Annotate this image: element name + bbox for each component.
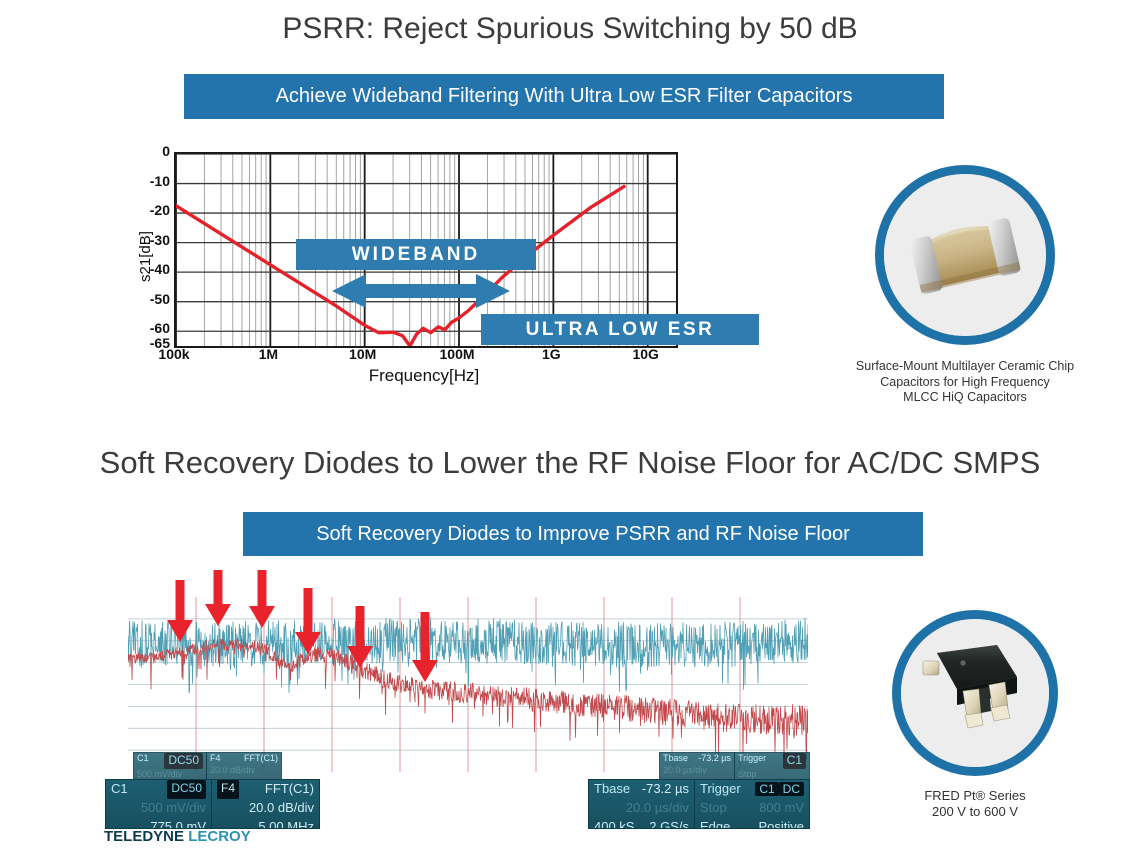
chart-x-tick: 10G xyxy=(632,346,658,362)
oscilloscope-display xyxy=(128,597,808,772)
wideband-span-arrow-icon xyxy=(332,272,510,310)
readout-timebase-memory: 400 kS xyxy=(594,818,634,829)
slide-root: PSRR: Reject Spurious Switching by 50 dB… xyxy=(0,0,1140,862)
readout-c1-scale: 500 mV/div xyxy=(141,799,206,818)
chart-x-tick: 100k xyxy=(158,346,189,362)
readout-trigger-label: Trigger xyxy=(700,780,741,799)
chart-y-tick: -40 xyxy=(130,261,170,277)
chart-y-tick: -30 xyxy=(130,232,170,248)
readout-f4-function: FFT(C1) xyxy=(265,780,314,799)
dpak-diode-package-icon xyxy=(901,619,1049,767)
readout-c1-ghost-coupling: DC50 xyxy=(164,753,203,769)
scope-brand-logo: TELEDYNE LECROY xyxy=(104,828,251,845)
product-fred-pt-diode: FRED Pt® Series 200 V to 600 V xyxy=(870,610,1080,821)
readout-timebase-delay: -73.2 µs xyxy=(642,780,689,799)
readout-trigger-slope: Positive xyxy=(758,818,804,829)
readout-f4-ghost-label: F4 xyxy=(210,753,221,765)
chart-x-axis-label: Frequency[Hz] xyxy=(174,366,674,386)
scope-fft-traces xyxy=(128,597,808,772)
chart-x-tick: 1M xyxy=(259,346,278,362)
ultra-low-esr-callout-label: ULTRA LOW ESR xyxy=(526,319,715,341)
readout-timebase-ghost-label: Tbase xyxy=(663,753,688,765)
readout-f4-span: 5.00 MHz xyxy=(258,818,314,829)
readout-trigger-ghost: TriggerC1 Stop xyxy=(734,752,810,781)
wideband-callout-label: WIDEBAND xyxy=(352,244,481,266)
readout-trigger[interactable]: Trigger C1DC Stop 800 mV Edge Positive xyxy=(694,779,810,829)
chart-y-tick: -50 xyxy=(130,291,170,307)
wideband-callout: WIDEBAND xyxy=(296,239,536,270)
chart-x-tick: 100M xyxy=(440,346,475,362)
readout-f4-ghost-function: FFT(C1) xyxy=(244,753,278,765)
chart-y-axis-ticks: 0-10-20-30-40-50-60-65 xyxy=(128,140,170,340)
banner-wideband-filtering-label: Achieve Wideband Filtering With Ultra Lo… xyxy=(276,85,853,108)
readout-trigger-level: 800 mV xyxy=(759,799,804,818)
readout-timebase-ghost: Tbase-73.2 µs 20.0 µs/div xyxy=(659,752,735,781)
scope-gridlines xyxy=(128,597,808,772)
readout-c1-ghost: C1DC50 500 mV/div xyxy=(133,752,207,781)
readout-timebase-rate: 2 GS/s xyxy=(649,818,689,829)
readout-trigger-type: Edge xyxy=(700,818,730,829)
readout-timebase[interactable]: Tbase -73.2 µs 20.0 µs/div 400 kS 2 GS/s xyxy=(588,779,695,829)
page-title-psrr: PSRR: Reject Spurious Switching by 50 dB xyxy=(0,12,1140,46)
readout-timebase-ghost-delay: -73.2 µs xyxy=(698,753,731,765)
chart-y-tick: 0 xyxy=(130,143,170,159)
page-title-soft-recovery: Soft Recovery Diodes to Lower the RF Noi… xyxy=(0,445,1140,481)
readout-f4-ghost-scale: 20.0 dB/div xyxy=(210,765,255,777)
readout-trigger-state: Stop xyxy=(700,799,727,818)
readout-trigger-source: C1 xyxy=(755,782,778,796)
product-diode-circle xyxy=(892,610,1058,776)
readout-f4-label: F4 xyxy=(217,780,239,799)
mlcc-chip-capacitor-icon xyxy=(884,174,1046,336)
ultra-low-esr-callout: ULTRA LOW ESR xyxy=(481,314,759,345)
banner-soft-recovery-label: Soft Recovery Diodes to Improve PSRR and… xyxy=(316,523,850,546)
chart-x-tick: 1G xyxy=(542,346,561,362)
product-mlcc-caption: Surface-Mount Multilayer Ceramic Chip Ca… xyxy=(845,359,1085,406)
readout-timebase-scale: 20.0 µs/div xyxy=(626,799,689,818)
readout-trigger-ghost-source: C1 xyxy=(783,753,806,769)
readout-c1-label: C1 xyxy=(111,780,128,799)
chart-y-tick: -10 xyxy=(130,173,170,189)
readout-trigger-coupling: DC xyxy=(779,782,804,796)
chart-y-tick: -60 xyxy=(130,320,170,336)
banner-soft-recovery: Soft Recovery Diodes to Improve PSRR and… xyxy=(243,512,923,556)
product-mlcc-capacitor: Surface-Mount Multilayer Ceramic Chip Ca… xyxy=(845,165,1085,406)
chart-x-tick: 10M xyxy=(349,346,376,362)
readout-timebase-label: Tbase xyxy=(594,780,630,799)
banner-wideband-filtering: Achieve Wideband Filtering With Ultra Lo… xyxy=(184,74,944,119)
readout-timebase-ghost-scale: 20.0 µs/div xyxy=(663,765,707,777)
readout-f4-ghost: F4FFT(C1) 20.0 dB/div xyxy=(206,752,282,781)
product-diode-caption: FRED Pt® Series 200 V to 600 V xyxy=(870,788,1080,821)
scope-brand-lecroy: LECROY xyxy=(188,828,251,845)
readout-c1-coupling: DC50 xyxy=(167,780,206,799)
readout-f4-scale: 20.0 dB/div xyxy=(249,799,314,818)
chart-x-axis-ticks: 100k1M10M100M1G10G xyxy=(174,346,674,366)
readout-c1-ghost-label: C1 xyxy=(137,753,149,769)
product-mlcc-circle xyxy=(875,165,1055,345)
scope-brand-teledyne: TELEDYNE xyxy=(104,828,184,845)
readout-trigger-ghost-label: Trigger xyxy=(738,753,766,769)
chart-y-tick: -20 xyxy=(130,202,170,218)
readout-f4[interactable]: F4 FFT(C1) 20.0 dB/div 5.00 MHz xyxy=(211,779,320,829)
readout-c1[interactable]: C1 DC50 500 mV/div 775.0 mV xyxy=(105,779,212,829)
